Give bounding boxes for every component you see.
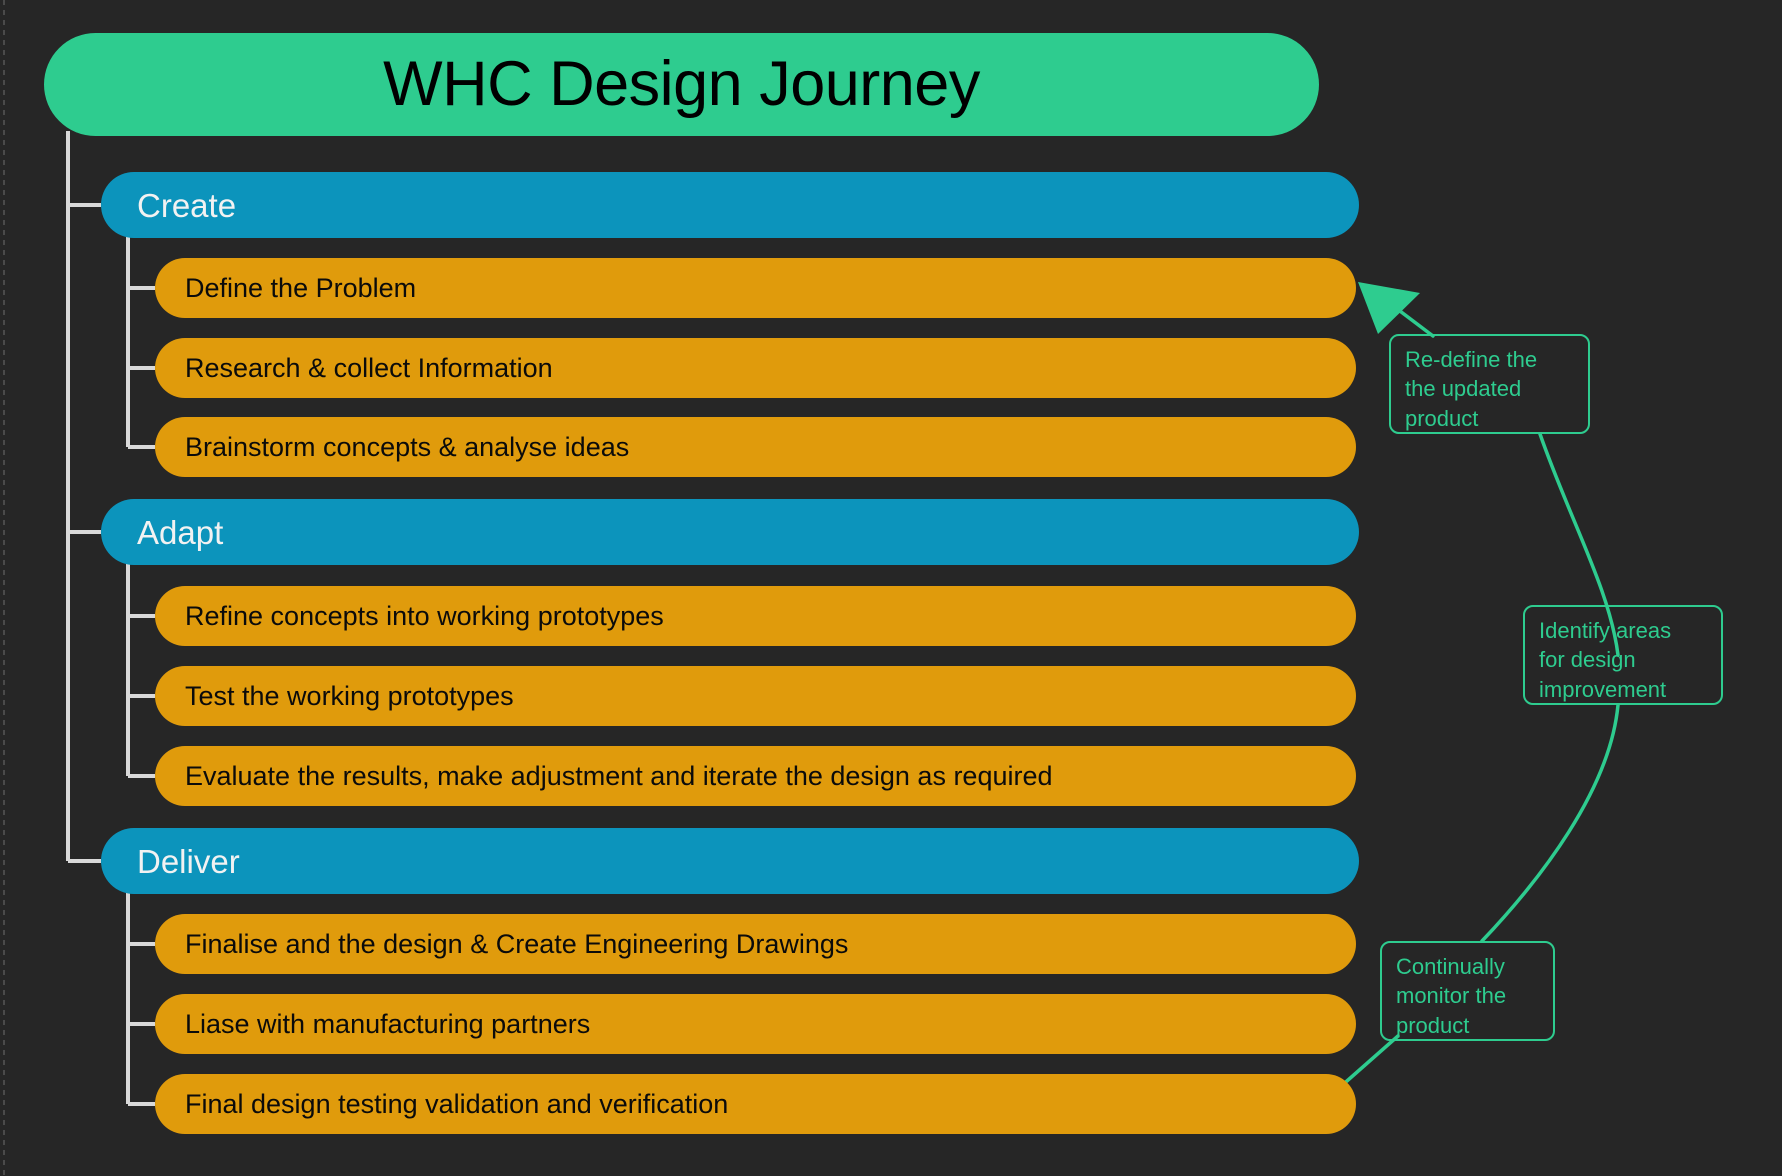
category-label: Deliver	[137, 845, 240, 878]
leaf-label: Define the Problem	[185, 275, 416, 302]
category-node-adapt[interactable]: Adapt	[101, 499, 1359, 565]
annotation-continually-monitor[interactable]: Continually monitor the product	[1380, 941, 1555, 1041]
root-node[interactable]: WHC Design Journey	[44, 33, 1319, 136]
annotation-re-define[interactable]: Re-define the the updated product	[1389, 334, 1590, 434]
leaf-label: Test the working prototypes	[185, 683, 514, 710]
leaf-node-final-design-testing[interactable]: Final design testing validation and veri…	[155, 1074, 1356, 1134]
annotation-line: Re-define the	[1405, 345, 1576, 374]
annotation-line: the updated	[1405, 374, 1576, 403]
annotation-line: for design	[1539, 645, 1709, 674]
leaf-label: Final design testing validation and veri…	[185, 1091, 728, 1118]
leaf-label: Finalise and the design & Create Enginee…	[185, 931, 848, 958]
left-edge-dotted-border	[3, 0, 5, 1176]
annotation-line: monitor the	[1396, 981, 1541, 1010]
annotation-line: product	[1396, 1011, 1541, 1040]
leaf-node-refine-concepts[interactable]: Refine concepts into working prototypes	[155, 586, 1356, 646]
page-title: WHC Design Journey	[383, 53, 980, 116]
annotation-identify-areas[interactable]: Identify areas for design improvement	[1523, 605, 1723, 705]
leaf-node-evaluate-results[interactable]: Evaluate the results, make adjustment an…	[155, 746, 1356, 806]
annotation-line: Continually	[1396, 952, 1541, 981]
category-label: Adapt	[137, 516, 223, 549]
leaf-label: Brainstorm concepts & analyse ideas	[185, 434, 629, 461]
category-node-create[interactable]: Create	[101, 172, 1359, 238]
annotation-line: product	[1405, 404, 1576, 433]
leaf-node-research-collect-information[interactable]: Research & collect Information	[155, 338, 1356, 398]
leaf-node-finalise-design[interactable]: Finalise and the design & Create Enginee…	[155, 914, 1356, 974]
leaf-node-define-the-problem[interactable]: Define the Problem	[155, 258, 1356, 318]
leaf-label: Refine concepts into working prototypes	[185, 603, 664, 630]
leaf-label: Research & collect Information	[185, 355, 553, 382]
category-node-deliver[interactable]: Deliver	[101, 828, 1359, 894]
annotation-line: improvement	[1539, 675, 1709, 704]
leaf-node-liase-manufacturing[interactable]: Liase with manufacturing partners	[155, 994, 1356, 1054]
category-label: Create	[137, 189, 236, 222]
leaf-label: Evaluate the results, make adjustment an…	[185, 763, 1053, 790]
leaf-node-brainstorm-concepts[interactable]: Brainstorm concepts & analyse ideas	[155, 417, 1356, 477]
design-journey-diagram: WHC Design Journey Create Define the Pro…	[0, 0, 1782, 1176]
leaf-node-test-prototypes[interactable]: Test the working prototypes	[155, 666, 1356, 726]
leaf-label: Liase with manufacturing partners	[185, 1011, 590, 1038]
annotation-line: Identify areas	[1539, 616, 1709, 645]
arrowhead	[1358, 282, 1420, 334]
